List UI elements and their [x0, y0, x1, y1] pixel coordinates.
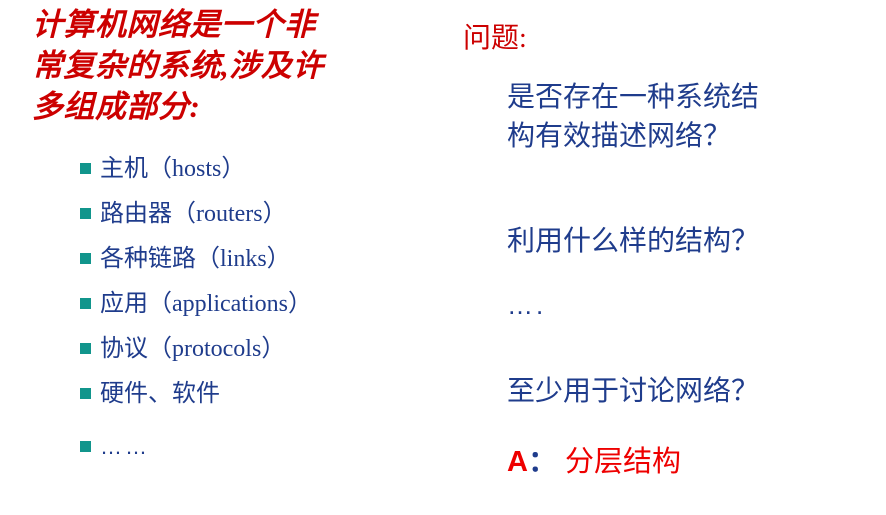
list-item: 各种链路（links）: [0, 236, 450, 281]
list-item: 硬件、软件: [0, 371, 450, 416]
list-item: 协议（protocols）: [0, 326, 450, 371]
list-item: 路由器（routers）: [0, 191, 450, 236]
answer-colon: ：: [528, 446, 565, 478]
list-item-label: 硬件、软件: [100, 380, 220, 408]
answer-label: A: [507, 446, 528, 478]
ellipsis-text: ….: [507, 288, 546, 322]
square-bullet-icon: [80, 343, 91, 354]
page-title: 计算机网络是一个非 常复杂的系统,涉及许 多组成部分:: [32, 4, 432, 127]
answer-value: 分层结构: [565, 446, 681, 478]
list-item-label: ……: [100, 433, 150, 461]
question-text-1: 是否存在一种系统结 构有效描述网络？: [507, 78, 886, 156]
left-content-column: 计算机网络是一个非 常复杂的系统,涉及许 多组成部分: 主机（hosts） 路由…: [0, 0, 450, 515]
question-heading: 问题:: [463, 22, 527, 56]
square-bullet-icon: [80, 163, 91, 174]
list-item-label: 应用（applications）: [100, 290, 312, 318]
right-content-column: 问题: 是否存在一种系统结 构有效描述网络？ 利用什么样的结构？ …. 至少用于…: [450, 0, 886, 515]
list-item-label: 主机（hosts）: [100, 155, 245, 183]
answer-line: A：分层结构: [507, 443, 681, 481]
list-item-label: 协议（protocols）: [100, 335, 285, 363]
list-item: ……: [0, 424, 450, 469]
component-bullet-list: 主机（hosts） 路由器（routers） 各种链路（links） 应用（ap…: [0, 146, 450, 469]
square-bullet-icon: [80, 253, 91, 264]
list-item-label: 路由器（routers）: [100, 200, 287, 228]
slide-canvas: 计算机网络是一个非 常复杂的系统,涉及许 多组成部分: 主机（hosts） 路由…: [0, 0, 886, 515]
list-item: 应用（applications）: [0, 281, 450, 326]
list-item-label: 各种链路（links）: [100, 245, 291, 273]
list-item: 主机（hosts）: [0, 146, 450, 191]
square-bullet-icon: [80, 208, 91, 219]
square-bullet-icon: [80, 298, 91, 309]
square-bullet-icon: [80, 388, 91, 399]
question-text-2: 利用什么样的结构？: [507, 222, 886, 261]
question-text-3: 至少用于讨论网络？: [507, 372, 886, 411]
square-bullet-icon: [80, 441, 91, 452]
